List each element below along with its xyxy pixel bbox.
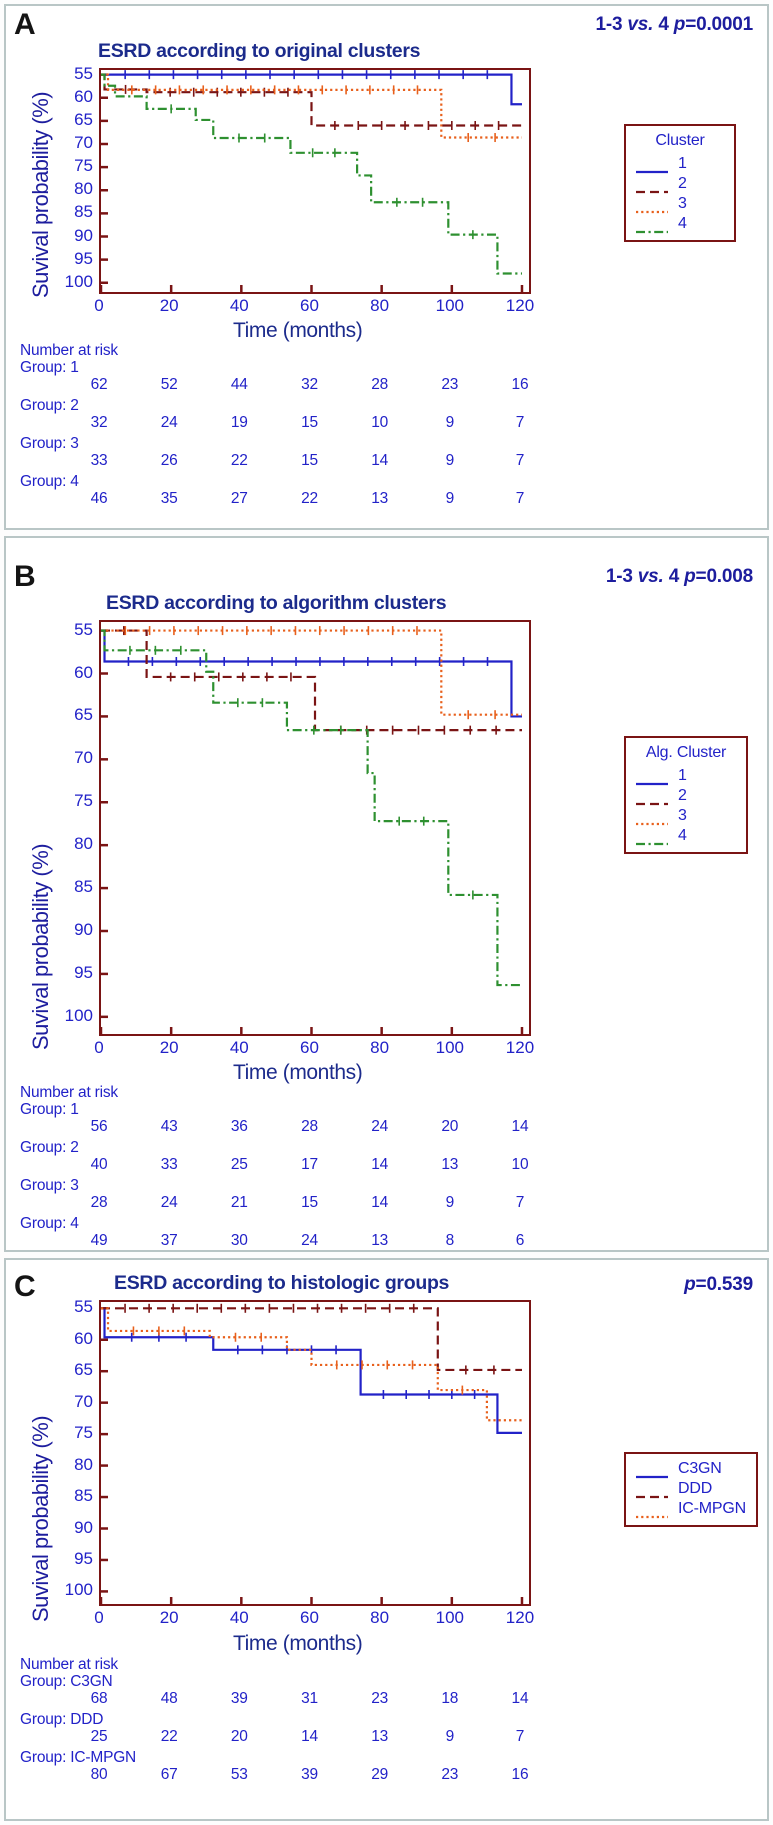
panel-c-pvalue: p=0.539 — [684, 1274, 753, 1296]
x-tick-label: 100 — [428, 297, 472, 314]
legend-item-label: 4 — [678, 828, 687, 844]
risk-value: 14 — [358, 1156, 402, 1174]
panel-c-letter: C — [14, 1270, 36, 1304]
risk-group-label: Group: 4 — [20, 1215, 580, 1232]
legend-item-1[interactable]: 1 — [635, 766, 737, 786]
y-tick-label: 100 — [49, 1581, 93, 1598]
curve-ddd — [101, 1308, 522, 1370]
risk-value: 16 — [498, 1766, 542, 1784]
y-tick-label: 100 — [49, 1007, 93, 1024]
legend-item-label: DDD — [678, 1481, 712, 1497]
legend-item-label: 1 — [678, 768, 687, 784]
risk-value: 6 — [498, 1232, 542, 1250]
risk-table-header: Number at risk — [20, 1084, 580, 1101]
legend-item-label: 4 — [678, 216, 687, 232]
risk-value: 80 — [77, 1766, 121, 1784]
risk-value: 14 — [498, 1118, 542, 1136]
legend-item-4[interactable]: 4 — [635, 214, 725, 234]
survival-curves — [101, 1302, 529, 1604]
y-tick-label: 85 — [49, 878, 93, 895]
risk-group-label: Group: 2 — [20, 397, 580, 414]
legend-item-2[interactable]: 2 — [635, 786, 737, 806]
x-tick-label: 60 — [287, 1609, 331, 1626]
censor-marks — [132, 1333, 475, 1399]
risk-value: 39 — [287, 1766, 331, 1784]
risk-value: 15 — [287, 414, 331, 432]
risk-value: 40 — [77, 1156, 121, 1174]
risk-value: 28 — [287, 1118, 331, 1136]
x-tick-label: 40 — [217, 1609, 261, 1626]
risk-value: 14 — [498, 1690, 542, 1708]
panel-a-xlabel: Time (months) — [233, 319, 362, 343]
risk-value: 9 — [428, 414, 472, 432]
risk-value: 24 — [147, 1194, 191, 1212]
risk-row: 463527221397 — [20, 490, 580, 511]
x-tick-label: 20 — [147, 1609, 191, 1626]
risk-row: 252220141397 — [20, 1728, 580, 1749]
risk-value: 43 — [147, 1118, 191, 1136]
risk-value: 15 — [287, 1194, 331, 1212]
x-tick-label: 60 — [287, 297, 331, 314]
risk-table-header: Number at risk — [20, 1656, 580, 1673]
risk-value: 32 — [287, 376, 331, 394]
risk-row: 56433628242014 — [20, 1118, 580, 1139]
risk-value: 53 — [217, 1766, 261, 1784]
x-tick-label: 100 — [428, 1039, 472, 1056]
x-tick-label: 40 — [217, 297, 261, 314]
panel-b-risk-table: Number at riskGroup: 156433628242014Grou… — [20, 1084, 580, 1253]
y-tick-label: 100 — [49, 273, 93, 290]
x-tick-label: 20 — [147, 1039, 191, 1056]
y-tick-label: 75 — [49, 792, 93, 809]
risk-value: 24 — [358, 1118, 402, 1136]
panel-a-risk-table: Number at riskGroup: 162524432282316Grou… — [20, 342, 580, 511]
x-tick-label: 80 — [358, 1609, 402, 1626]
risk-value: 25 — [77, 1728, 121, 1746]
risk-value: 7 — [498, 1728, 542, 1746]
risk-row: 68483931231814 — [20, 1690, 580, 1711]
risk-value: 18 — [428, 1690, 472, 1708]
risk-group-label: Group: 1 — [20, 359, 580, 376]
panel-a-plot-area — [99, 68, 531, 294]
risk-value: 22 — [147, 1728, 191, 1746]
y-tick-label: 75 — [49, 157, 93, 174]
risk-value: 20 — [428, 1118, 472, 1136]
risk-group-label: Group: 1 — [20, 1101, 580, 1118]
risk-value: 30 — [217, 1232, 261, 1250]
risk-value: 9 — [428, 1194, 472, 1212]
risk-value: 22 — [217, 452, 261, 470]
y-tick-label: 75 — [49, 1424, 93, 1441]
risk-group-label: Group: 2 — [20, 1139, 580, 1156]
risk-value: 8 — [428, 1232, 472, 1250]
panel-b-legend: Alg. Cluster1234 — [624, 736, 748, 854]
risk-value: 33 — [77, 452, 121, 470]
y-tick-label: 65 — [49, 706, 93, 723]
risk-group-label: Group: IC-MPGN — [20, 1749, 580, 1766]
curve-ic-mpgn — [101, 1308, 522, 1420]
legend-item-4[interactable]: 4 — [635, 826, 737, 846]
y-tick-label: 85 — [49, 1487, 93, 1504]
risk-value: 37 — [147, 1232, 191, 1250]
panel-b-xlabel: Time (months) — [233, 1061, 362, 1085]
risk-value: 52 — [147, 376, 191, 394]
risk-row: 493730241386 — [20, 1232, 580, 1253]
risk-value: 7 — [498, 414, 542, 432]
y-tick-label: 70 — [49, 749, 93, 766]
curve-2 — [101, 75, 522, 126]
legend-item-label: 1 — [678, 156, 687, 172]
risk-value: 9 — [428, 1728, 472, 1746]
legend-item-2[interactable]: 2 — [635, 174, 725, 194]
y-tick-label: 55 — [49, 621, 93, 638]
legend-item-label: 2 — [678, 788, 687, 804]
risk-value: 14 — [358, 452, 402, 470]
risk-value: 7 — [498, 490, 542, 508]
risk-value: 22 — [287, 490, 331, 508]
risk-value: 13 — [358, 1232, 402, 1250]
risk-value: 39 — [217, 1690, 261, 1708]
risk-value: 31 — [287, 1690, 331, 1708]
risk-value: 67 — [147, 1766, 191, 1784]
y-tick-label: 80 — [49, 180, 93, 197]
survival-curves — [101, 622, 529, 1034]
risk-value: 24 — [287, 1232, 331, 1250]
risk-value: 49 — [77, 1232, 121, 1250]
risk-value: 25 — [217, 1156, 261, 1174]
panel-a: A 1-3 vs. 4 p=0.0001 ESRD according to o… — [4, 4, 769, 530]
risk-value: 13 — [358, 1728, 402, 1746]
panel-c-xlabel: Time (months) — [233, 1632, 362, 1656]
y-tick-label: 65 — [49, 111, 93, 128]
risk-group-label: Group: 3 — [20, 435, 580, 452]
y-tick-label: 85 — [49, 203, 93, 220]
curve-4 — [101, 631, 522, 985]
legend-item-c3gn[interactable]: C3GN — [635, 1459, 747, 1479]
risk-value: 62 — [77, 376, 121, 394]
curve-2 — [101, 631, 522, 731]
censor-marks — [130, 646, 473, 900]
curve-1 — [101, 631, 522, 717]
y-tick-label: 80 — [49, 1456, 93, 1473]
y-tick-label: 95 — [49, 1550, 93, 1567]
risk-value: 35 — [147, 490, 191, 508]
legend-item-label: IC-MPGN — [678, 1501, 746, 1517]
risk-value: 13 — [358, 490, 402, 508]
y-tick-label: 95 — [49, 964, 93, 981]
risk-group-label: Group: DDD — [20, 1711, 580, 1728]
y-tick-label: 70 — [49, 1393, 93, 1410]
legend-title: Alg. Cluster — [635, 744, 737, 762]
legend-item-label: 2 — [678, 176, 687, 192]
risk-group-label: Group: 3 — [20, 1177, 580, 1194]
panel-b-plot-area — [99, 620, 531, 1036]
risk-value: 48 — [147, 1690, 191, 1708]
panel-b-title: ESRD according to algorithm clusters — [106, 592, 446, 615]
survival-curves — [101, 70, 529, 292]
risk-value: 19 — [217, 414, 261, 432]
risk-value: 23 — [428, 376, 472, 394]
panel-c-title: ESRD according to histologic groups — [114, 1272, 449, 1295]
x-tick-label: 120 — [498, 1039, 542, 1056]
risk-value: 27 — [217, 490, 261, 508]
y-tick-label: 55 — [49, 1298, 93, 1315]
panel-b-letter: B — [14, 560, 36, 594]
panel-c-legend: C3GNDDDIC-MPGN — [624, 1452, 758, 1527]
risk-value: 23 — [428, 1766, 472, 1784]
risk-value: 9 — [428, 490, 472, 508]
y-tick-label: 60 — [49, 664, 93, 681]
x-tick-label: 100 — [428, 1609, 472, 1626]
y-tick-label: 90 — [49, 1519, 93, 1536]
legend-item-label: 3 — [678, 196, 687, 212]
risk-value: 7 — [498, 1194, 542, 1212]
x-tick-label: 20 — [147, 297, 191, 314]
y-tick-label: 90 — [49, 921, 93, 938]
risk-value: 28 — [77, 1194, 121, 1212]
risk-value: 13 — [428, 1156, 472, 1174]
legend-title: Cluster — [635, 132, 725, 150]
risk-value: 10 — [498, 1156, 542, 1174]
risk-value: 17 — [287, 1156, 331, 1174]
panel-c: C p=0.539 ESRD according to histologic g… — [4, 1258, 769, 1821]
risk-row: 80675339292316 — [20, 1766, 580, 1787]
legend-item-3[interactable]: 3 — [635, 806, 737, 826]
x-tick-label: 120 — [498, 1609, 542, 1626]
risk-value: 15 — [287, 452, 331, 470]
panel-b: B 1-3 vs. 4 p=0.008 ESRD according to al… — [4, 536, 769, 1252]
x-tick-label: 0 — [77, 1609, 121, 1626]
risk-value: 14 — [287, 1728, 331, 1746]
y-tick-label: 55 — [49, 65, 93, 82]
legend-item-1[interactable]: 1 — [635, 154, 725, 174]
x-tick-label: 60 — [287, 1039, 331, 1056]
legend-item-ic-mpgn[interactable]: IC-MPGN — [635, 1499, 747, 1519]
risk-row: 332622151497 — [20, 452, 580, 473]
risk-value: 26 — [147, 452, 191, 470]
risk-row: 282421151497 — [20, 1194, 580, 1215]
risk-value: 32 — [77, 414, 121, 432]
risk-value: 21 — [217, 1194, 261, 1212]
risk-row: 62524432282316 — [20, 376, 580, 397]
risk-value: 33 — [147, 1156, 191, 1174]
x-tick-label: 80 — [358, 297, 402, 314]
risk-value: 24 — [147, 414, 191, 432]
risk-value: 9 — [428, 452, 472, 470]
y-tick-label: 60 — [49, 1330, 93, 1347]
panel-c-risk-table: Number at riskGroup: C3GN68483931231814G… — [20, 1656, 580, 1787]
risk-value: 20 — [217, 1728, 261, 1746]
risk-value: 14 — [358, 1194, 402, 1212]
legend-item-3[interactable]: 3 — [635, 194, 725, 214]
curve-3 — [101, 631, 522, 715]
risk-row: 40332517141310 — [20, 1156, 580, 1177]
risk-value: 29 — [358, 1766, 402, 1784]
risk-value: 28 — [358, 376, 402, 394]
censor-marks — [125, 626, 495, 719]
risk-row: 322419151097 — [20, 414, 580, 435]
risk-group-label: Group: C3GN — [20, 1673, 580, 1690]
risk-value: 56 — [77, 1118, 121, 1136]
panel-c-plot-area — [99, 1300, 531, 1606]
figure-page: A 1-3 vs. 4 p=0.0001 ESRD according to o… — [0, 0, 773, 1825]
y-tick-label: 70 — [49, 134, 93, 151]
panel-a-legend: Cluster1234 — [624, 124, 736, 242]
y-tick-label: 65 — [49, 1361, 93, 1378]
panel-a-letter: A — [14, 8, 36, 42]
risk-value: 7 — [498, 452, 542, 470]
x-tick-label: 80 — [358, 1039, 402, 1056]
x-tick-label: 0 — [77, 297, 121, 314]
legend-item-label: 3 — [678, 808, 687, 824]
panel-a-pvalue: 1-3 vs. 4 p=0.0001 — [595, 14, 753, 36]
risk-value: 23 — [358, 1690, 402, 1708]
risk-value: 16 — [498, 376, 542, 394]
legend-item-ddd[interactable]: DDD — [635, 1479, 747, 1499]
risk-value: 46 — [77, 490, 121, 508]
risk-group-label: Group: 4 — [20, 473, 580, 490]
x-tick-label: 0 — [77, 1039, 121, 1056]
risk-value: 10 — [358, 414, 402, 432]
curve-c3gn — [101, 1308, 522, 1433]
risk-value: 44 — [217, 376, 261, 394]
y-tick-label: 60 — [49, 88, 93, 105]
y-tick-label: 90 — [49, 227, 93, 244]
y-tick-label: 95 — [49, 250, 93, 267]
risk-table-header: Number at risk — [20, 342, 580, 359]
legend-item-label: C3GN — [678, 1461, 722, 1477]
risk-value: 68 — [77, 1690, 121, 1708]
risk-value: 36 — [217, 1118, 261, 1136]
panel-b-pvalue: 1-3 vs. 4 p=0.008 — [606, 566, 753, 588]
x-tick-label: 120 — [498, 297, 542, 314]
panel-a-title: ESRD according to original clusters — [98, 40, 420, 63]
y-tick-label: 80 — [49, 835, 93, 852]
x-tick-label: 40 — [217, 1039, 261, 1056]
